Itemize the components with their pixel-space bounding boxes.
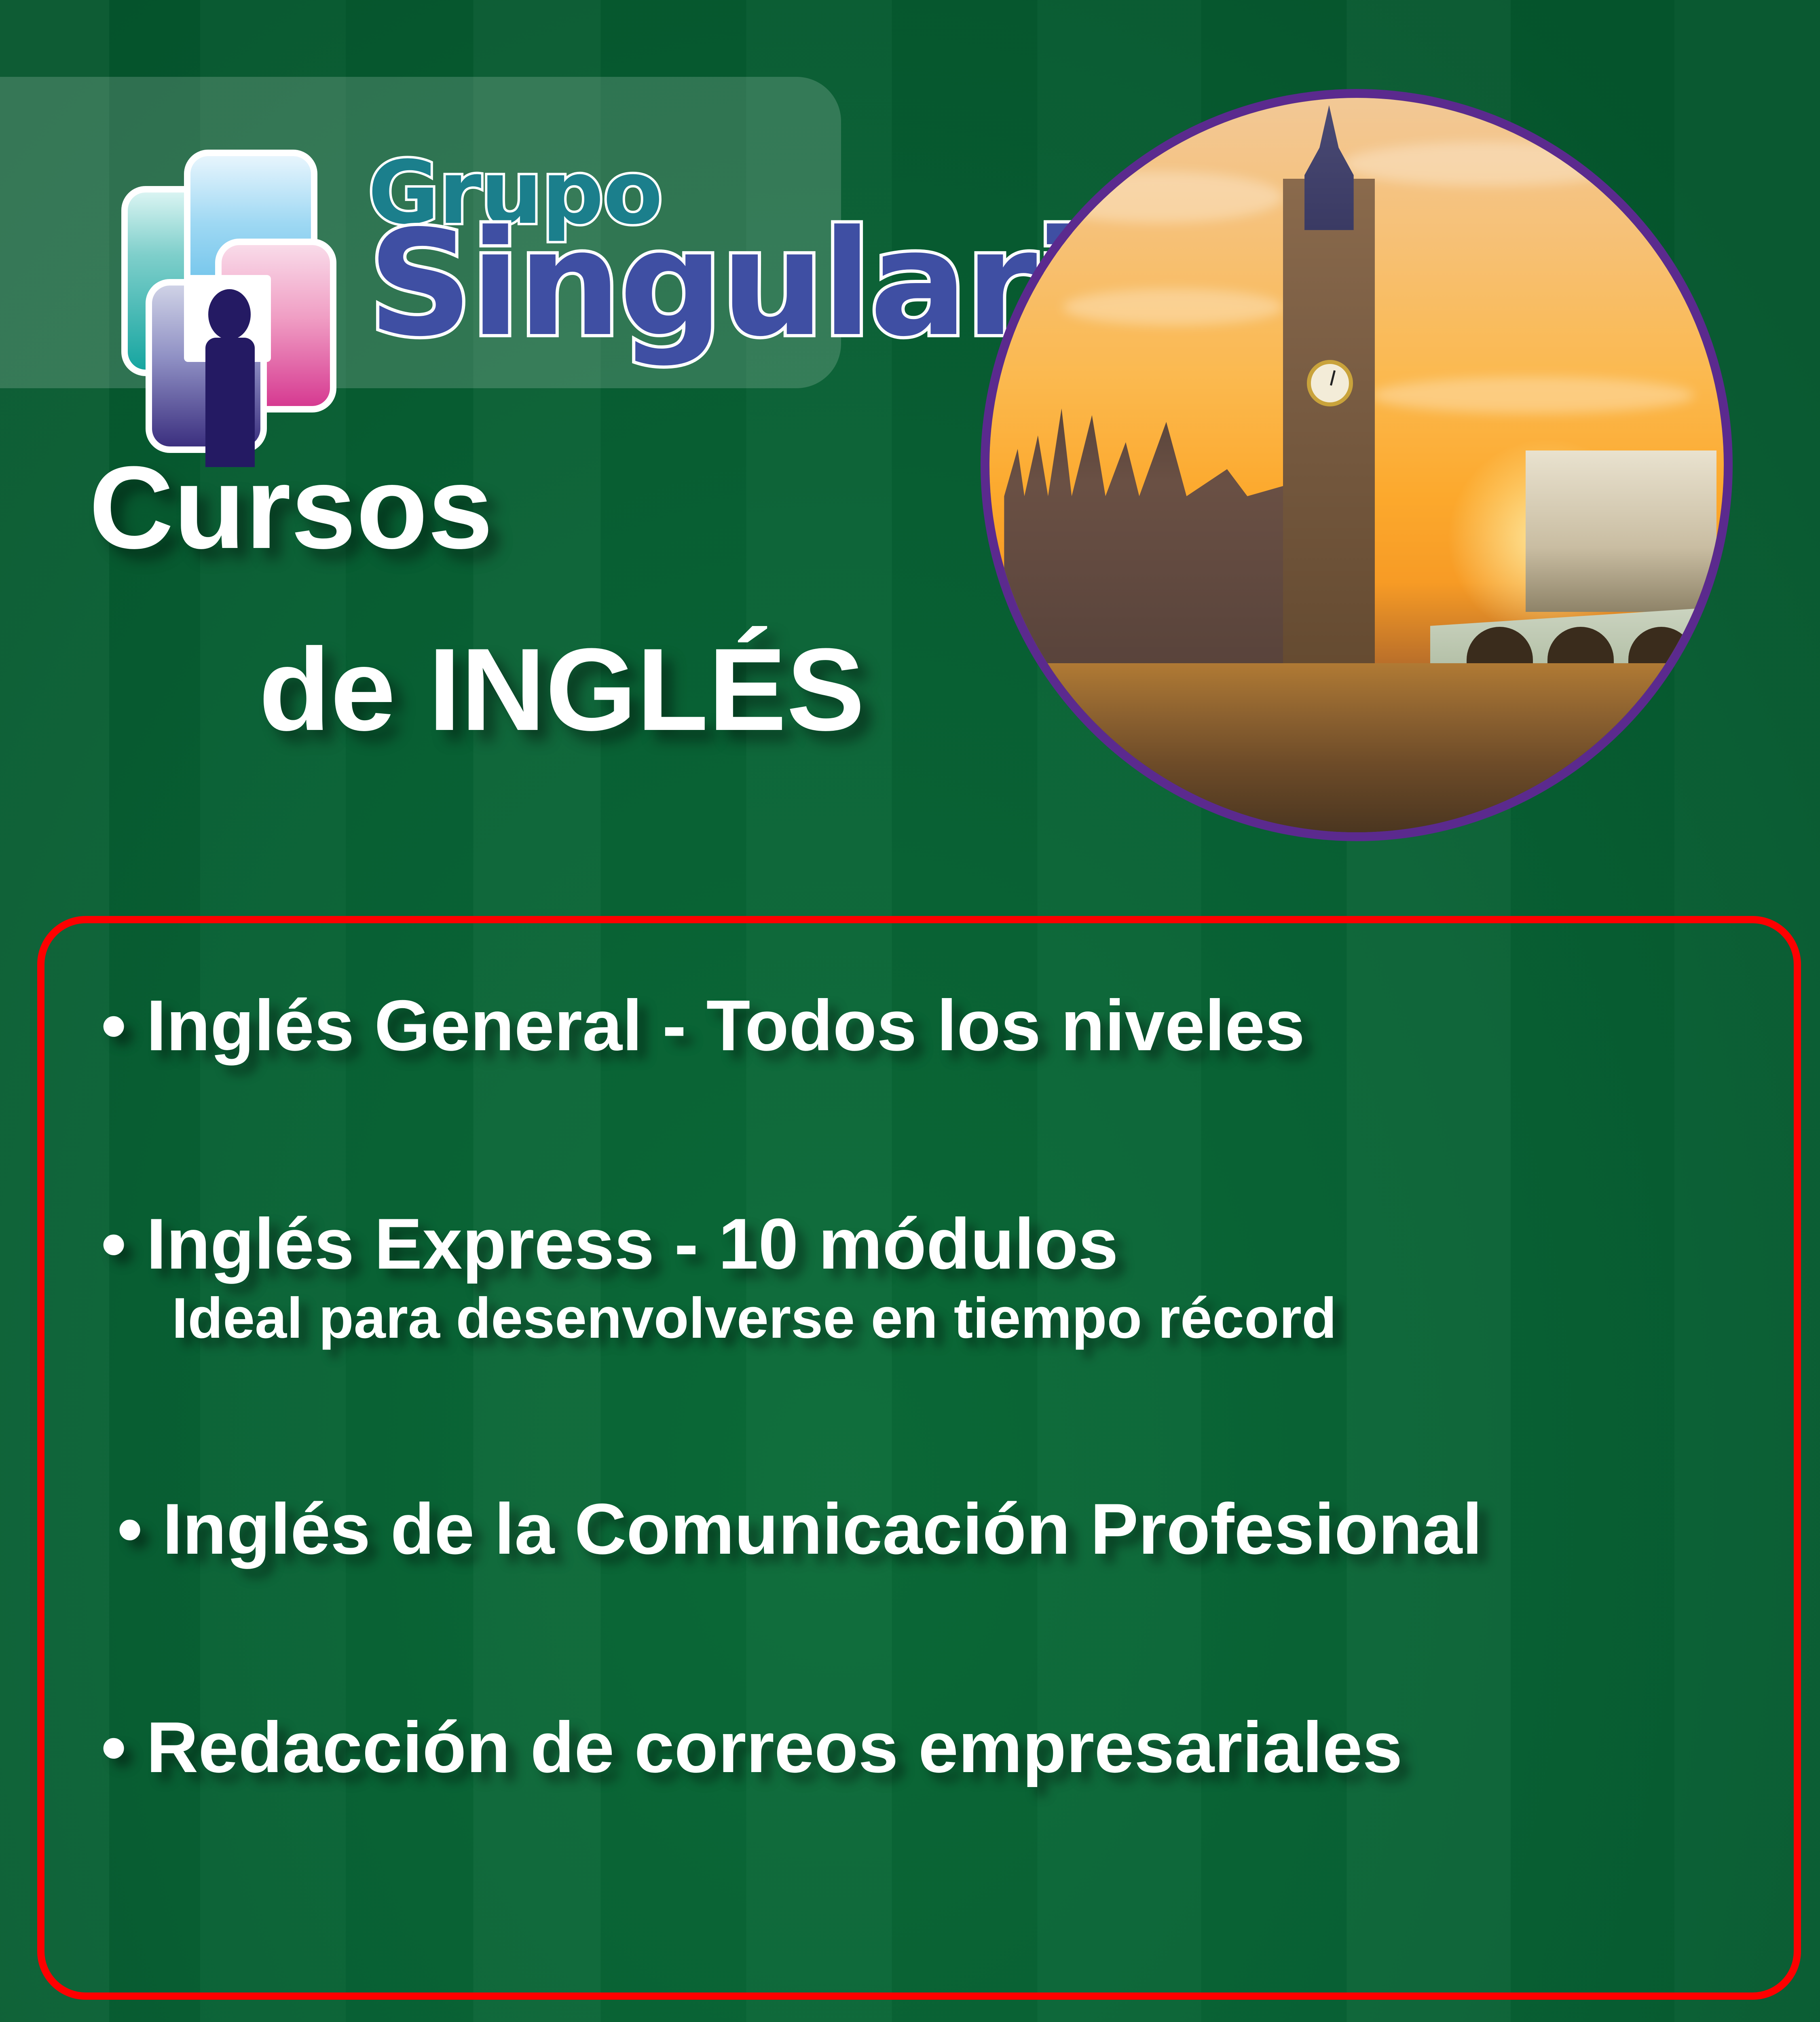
list-item: • Inglés Express - 10 módulos: [101, 1202, 1118, 1285]
singularis-logo-mark: [121, 137, 380, 388]
course-title: Inglés Express - 10 módulos: [146, 1203, 1118, 1284]
headline-line-1: Cursos: [0, 449, 881, 566]
list-item: • Inglés de la Comunicación Profesional: [117, 1487, 1482, 1570]
bullet-dot: •: [101, 1203, 126, 1284]
headline-line-2: de INGLÉS: [0, 631, 881, 748]
bullet-dot: •: [101, 1707, 126, 1787]
course-subtitle: Ideal para desenvolverse en tiempo récor…: [172, 1285, 1337, 1352]
brand-wordmark: Grupo Singularis: [368, 154, 833, 348]
cloud: [1063, 289, 1283, 326]
brand-logo: Grupo Singularis: [49, 105, 837, 380]
course-title: Redacción de correos empresariales: [146, 1707, 1403, 1787]
bullet-dot: •: [117, 1489, 142, 1569]
brand-word-singularis: Singularis: [368, 220, 833, 348]
cloud: [1034, 171, 1283, 223]
clock-tower: [1283, 179, 1375, 693]
poster-root: Grupo Singularis Cursos de INGLÉS • Ingl…: [0, 0, 1820, 2022]
list-item: • Redacción de correos empresariales: [101, 1706, 1402, 1789]
list-item: • Inglés General - Todos los niveles: [101, 984, 1305, 1067]
river-thames: [989, 663, 1724, 832]
bullet-dot: •: [101, 985, 126, 1066]
cloud: [1371, 377, 1694, 414]
cloud: [1342, 142, 1636, 186]
page-title: Cursos de INGLÉS: [0, 449, 881, 748]
clock-face: [1307, 360, 1353, 406]
course-list-box: • Inglés General - Todos los niveles • I…: [37, 916, 1801, 2000]
course-title: Inglés General - Todos los niveles: [146, 985, 1305, 1066]
riverside-building: [1526, 451, 1716, 612]
course-title: Inglés de la Comunicación Profesional: [163, 1489, 1482, 1569]
logo-person-head-icon: [208, 289, 251, 340]
big-ben-photo: [981, 89, 1733, 841]
clock-hand: [1330, 370, 1336, 386]
